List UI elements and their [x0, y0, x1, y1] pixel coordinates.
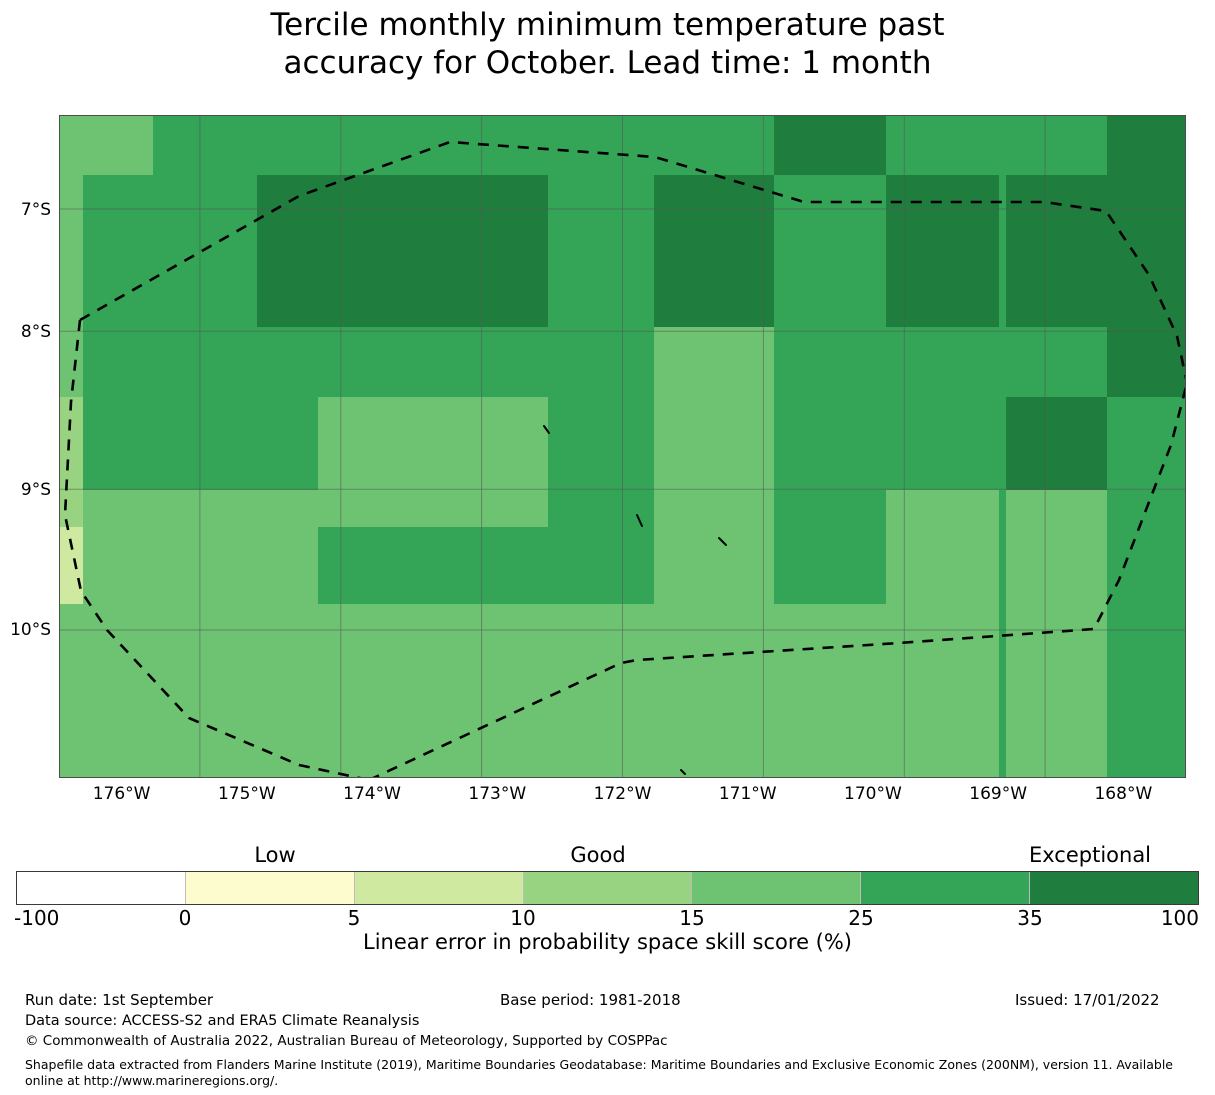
colorbar-gradient [16, 871, 1199, 905]
x-tick-label: 173°W [468, 784, 526, 804]
heatmap-cell [318, 115, 549, 175]
heatmap-cell [654, 115, 775, 175]
x-tick-label: 176°W [93, 784, 151, 804]
heatmap-cell [59, 237, 84, 328]
y-tick-label: 7°S [21, 200, 51, 220]
colorbar-segment [17, 872, 185, 904]
colorbar-segment [523, 872, 692, 904]
footer-run-date: Run date: 1st September [25, 991, 213, 1009]
heatmap-cell [1107, 490, 1186, 528]
footer-base-period: Base period: 1981-2018 [500, 991, 681, 1009]
heatmap-cell [654, 327, 775, 397]
heatmap-cell [1107, 604, 1186, 778]
colorbar-tick-label: 100 [1161, 906, 1199, 930]
heatmap-cell [1107, 115, 1186, 398]
heatmap-cell [318, 604, 549, 778]
heatmap-cell [153, 175, 259, 328]
heatmap-cell [774, 327, 888, 397]
colorbar-title: Linear error in probability space skill … [0, 930, 1215, 954]
heatmap-cell [318, 175, 549, 328]
heatmap-cell [59, 175, 84, 238]
colorbar-segment [185, 872, 354, 904]
x-tick-label: 170°W [844, 784, 902, 804]
heatmap-cell [153, 604, 320, 778]
heatmap-cell [774, 527, 888, 605]
heatmap-cell [318, 490, 549, 528]
chart-title: Tercile monthly minimum temperature past… [0, 6, 1215, 82]
x-tick-label: 169°W [969, 784, 1027, 804]
heatmap-cell [153, 115, 320, 175]
colorbar-tick-label: 5 [348, 906, 361, 930]
heatmap-cell [318, 397, 549, 491]
heatmap-cell [886, 527, 1000, 605]
heatmap-cell [548, 604, 655, 778]
x-tick-label: 171°W [719, 784, 777, 804]
heatmap-cell [318, 327, 549, 397]
heatmap-cell [153, 327, 320, 397]
heatmap-cell [654, 490, 775, 528]
x-tick-label: 172°W [594, 784, 652, 804]
heatmap-cell [83, 490, 154, 528]
heatmap-cell [1006, 175, 1109, 328]
heatmap-cell [654, 175, 775, 328]
heatmap-cell [83, 175, 154, 238]
heatmap-cell [548, 527, 655, 605]
heatmap-cell [774, 604, 888, 778]
heatmap-cell [886, 327, 1000, 397]
y-tick-label: 8°S [21, 322, 51, 342]
heatmap-cell [774, 175, 888, 328]
colorbar-category-label: Good [570, 843, 625, 867]
heatmap-cell [59, 527, 84, 605]
colorbar-category-label: Exceptional [1029, 843, 1151, 867]
heatmap-cell [548, 327, 655, 397]
heatmap-cell [59, 327, 84, 397]
heatmap-cell [654, 527, 775, 605]
heatmap-cell [59, 604, 154, 778]
heatmap-cell [548, 115, 655, 327]
skill-score-heatmap [59, 115, 1186, 778]
colorbar-segment [354, 872, 523, 904]
heatmap-cell [1006, 397, 1109, 491]
colorbar [16, 871, 1199, 905]
x-tick-label: 168°W [1094, 784, 1152, 804]
heatmap-cell [654, 604, 775, 778]
map-plot-area [59, 115, 1186, 778]
heatmap-cell [548, 397, 655, 491]
heatmap-cell [59, 490, 84, 528]
heatmap-cell [774, 397, 888, 491]
heatmap-cell [257, 175, 319, 328]
colorbar-tick-label: 35 [1017, 906, 1042, 930]
heatmap-cell [1006, 604, 1109, 778]
heatmap-cell [774, 115, 888, 175]
heatmap-cell [83, 527, 154, 605]
colorbar-category-label: Low [254, 843, 295, 867]
heatmap-cell [83, 327, 154, 397]
x-tick-label: 175°W [218, 784, 276, 804]
colorbar-tick-label: 10 [510, 906, 535, 930]
x-tick-label: 174°W [343, 784, 401, 804]
footer-copyright: © Commonwealth of Australia 2022, Austra… [25, 1033, 668, 1049]
heatmap-cell [1006, 490, 1109, 528]
heatmap-cell [1107, 397, 1186, 491]
colorbar-tick-label: 25 [848, 906, 873, 930]
y-tick-label: 10°S [10, 620, 51, 640]
heatmap-cell [548, 490, 655, 528]
colorbar-tick-label: 0 [179, 906, 192, 930]
heatmap-cell [59, 115, 154, 175]
heatmap-cell [318, 527, 549, 605]
y-tick-label: 9°S [21, 480, 51, 500]
heatmap-cell [886, 604, 1000, 778]
heatmap-cell [83, 397, 154, 491]
colorbar-tick-label: 15 [679, 906, 704, 930]
heatmap-cell [654, 397, 775, 491]
heatmap-cell [774, 490, 888, 528]
heatmap-cell [83, 237, 154, 328]
footer-data-source: Data source: ACCESS-S2 and ERA5 Climate … [25, 1013, 419, 1029]
heatmap-cell [1107, 527, 1186, 605]
heatmap-cell [886, 115, 1000, 175]
heatmap-cell [153, 397, 320, 491]
heatmap-cell [1006, 527, 1109, 605]
colorbar-segment [1029, 872, 1198, 904]
heatmap-cell [153, 490, 320, 528]
colorbar-segment [860, 872, 1029, 904]
footer-shapefile-attribution: Shapefile data extracted from Flanders M… [25, 1057, 1205, 1089]
heatmap-cell [153, 527, 320, 605]
heatmap-cell [886, 490, 1000, 528]
heatmap-cell [1006, 327, 1109, 397]
footer-issued-date: Issued: 17/01/2022 [1015, 991, 1160, 1009]
heatmap-cell [59, 397, 84, 491]
colorbar-tick-label: -100 [14, 906, 59, 930]
heatmap-cell [886, 175, 1000, 328]
heatmap-cell [886, 397, 1000, 491]
colorbar-segment [691, 872, 860, 904]
